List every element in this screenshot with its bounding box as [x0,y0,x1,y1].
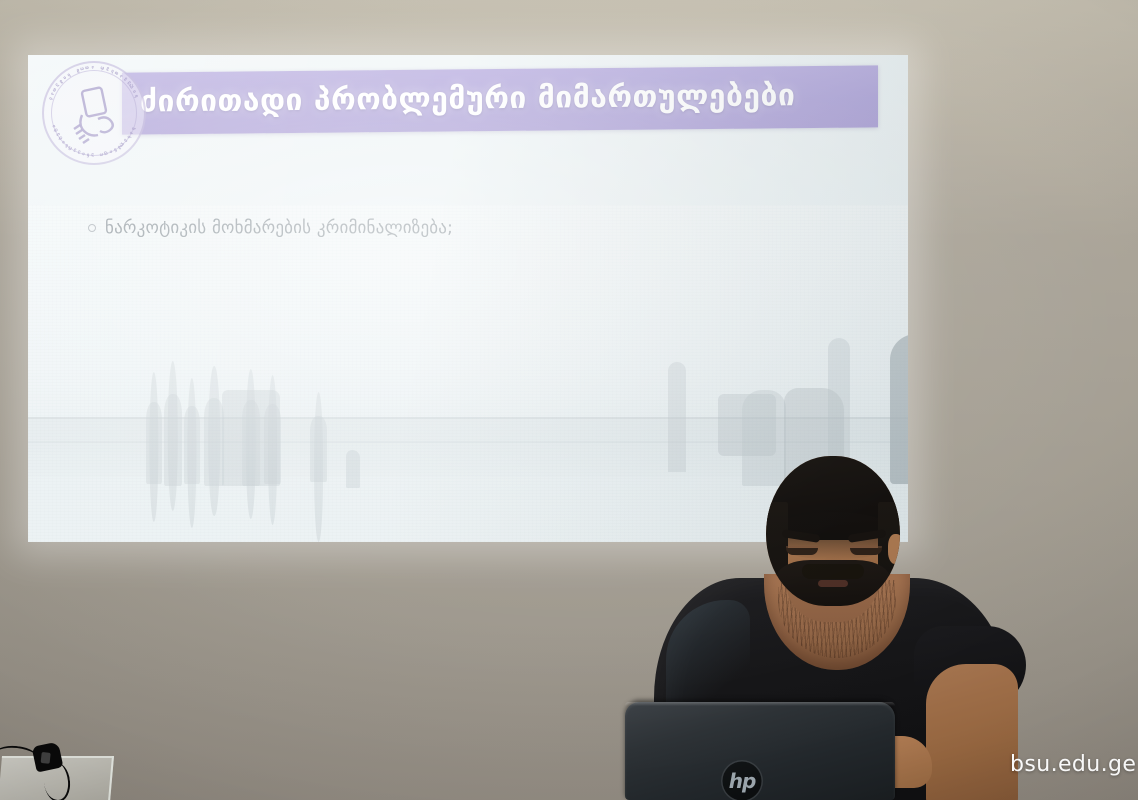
hp-laptop: hp [625,702,895,800]
eye-right [850,548,882,555]
site-watermark: bsu.edu.ge [1010,752,1136,777]
hp-logo-icon: hp [721,760,763,800]
university-seal-logo: ბათუმის შოთა რუსთაველისსახელმწიფო უნივერ… [42,61,146,165]
laptop-lid-edge [625,702,895,706]
mouth [818,580,848,587]
slide-bullet-row: ნარკოტიკის მოხმარების კრიმინალიზება; [88,218,453,238]
mustache [802,564,864,579]
laptop-lid: hp [625,702,895,800]
presenter-arm-right [926,664,1018,800]
microphone-icon [32,741,64,772]
slide-bullet-text: ნარკოტიკის მოხმარების კრიმინალიზება; [105,218,453,238]
seal-emblem-icon [68,85,126,145]
acrylic-lectern [0,742,120,800]
slide-title: ძირითადი პრობლემური მიმართულებები [140,77,870,119]
eye-left [786,548,818,555]
presenter-head [766,456,900,606]
bullet-marker-icon [88,224,96,232]
lecture-room-scene: ძირითადი პრობლემური მიმართულებები ბათუმი… [0,0,1138,800]
presenter-ear [888,534,900,564]
